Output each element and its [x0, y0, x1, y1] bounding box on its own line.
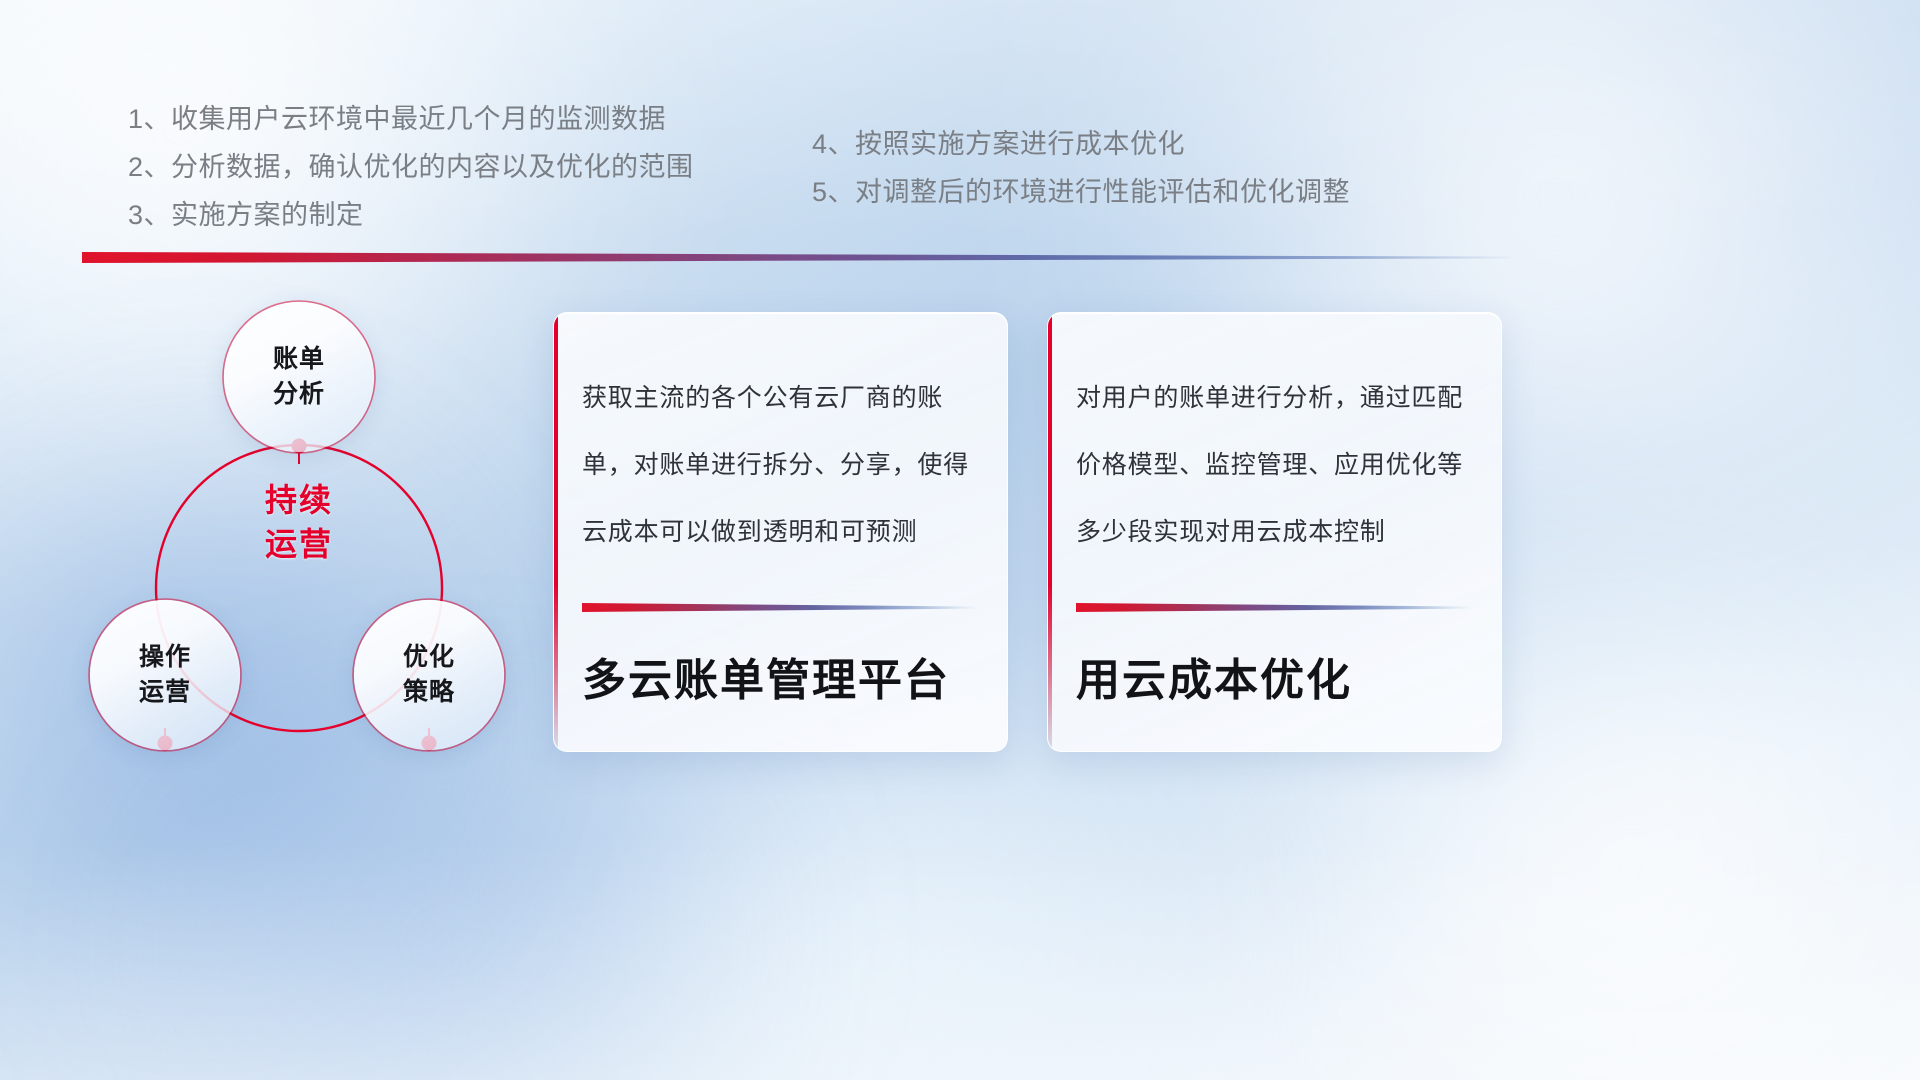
- step-item: 2、分析数据，确认优化的内容以及优化的范围: [128, 143, 768, 191]
- step-item: 1、收集用户云环境中最近几个月的监测数据: [128, 95, 768, 143]
- section-divider: [82, 252, 1517, 263]
- feature-card-title: 用云成本优化: [1076, 651, 1481, 711]
- feature-card-cloud-cost-optimization[interactable]: 对用户的账单进行分析，通过匹配价格模型、监控管理、应用优化等多少段实现对用云成本…: [1047, 312, 1502, 752]
- step-item: 3、实施方案的制定: [128, 191, 768, 239]
- feature-card-body: 获取主流的各个公有云厂商的账单，对账单进行拆分、分享，使得云成本可以做到透明和可…: [582, 365, 985, 566]
- section-divider-gradient: [82, 252, 1517, 263]
- diagram-node-label: 操作 运营: [139, 640, 191, 710]
- diagram-center-label: 持续 运营: [224, 478, 374, 566]
- diagram-node-label: 优化 策略: [403, 640, 455, 710]
- feature-card-divider: [1076, 603, 1473, 612]
- feature-card-divider-gradient: [1076, 603, 1473, 612]
- diagram-node-optimization-strategy[interactable]: 优化 策略: [354, 600, 504, 750]
- steps-right-column: 4、按照实施方案进行成本优化 5、对调整后的环境进行性能评估和优化调整: [812, 120, 1452, 216]
- feature-card-divider-gradient: [582, 603, 979, 612]
- diagram-node-label: 账单 分析: [273, 342, 325, 412]
- diagram-node-operations[interactable]: 操作 运营: [90, 600, 240, 750]
- feature-card-multicloud-billing[interactable]: 获取主流的各个公有云厂商的账单，对账单进行拆分、分享，使得云成本可以做到透明和可…: [553, 312, 1008, 752]
- continuous-operation-diagram: 账单 分析 操作 运营 优化 策略 持续 运营: [78, 288, 548, 768]
- step-item: 5、对调整后的环境进行性能评估和优化调整: [812, 168, 1452, 216]
- feature-card-divider: [582, 603, 979, 612]
- feature-card-title: 多云账单管理平台: [582, 651, 987, 711]
- steps-left-column: 1、收集用户云环境中最近几个月的监测数据 2、分析数据，确认优化的内容以及优化的…: [128, 95, 768, 239]
- feature-card-body: 对用户的账单进行分析，通过匹配价格模型、监控管理、应用优化等多少段实现对用云成本…: [1076, 365, 1479, 566]
- diagram-node-billing-analysis[interactable]: 账单 分析: [224, 302, 374, 452]
- step-item: 4、按照实施方案进行成本优化: [812, 120, 1452, 168]
